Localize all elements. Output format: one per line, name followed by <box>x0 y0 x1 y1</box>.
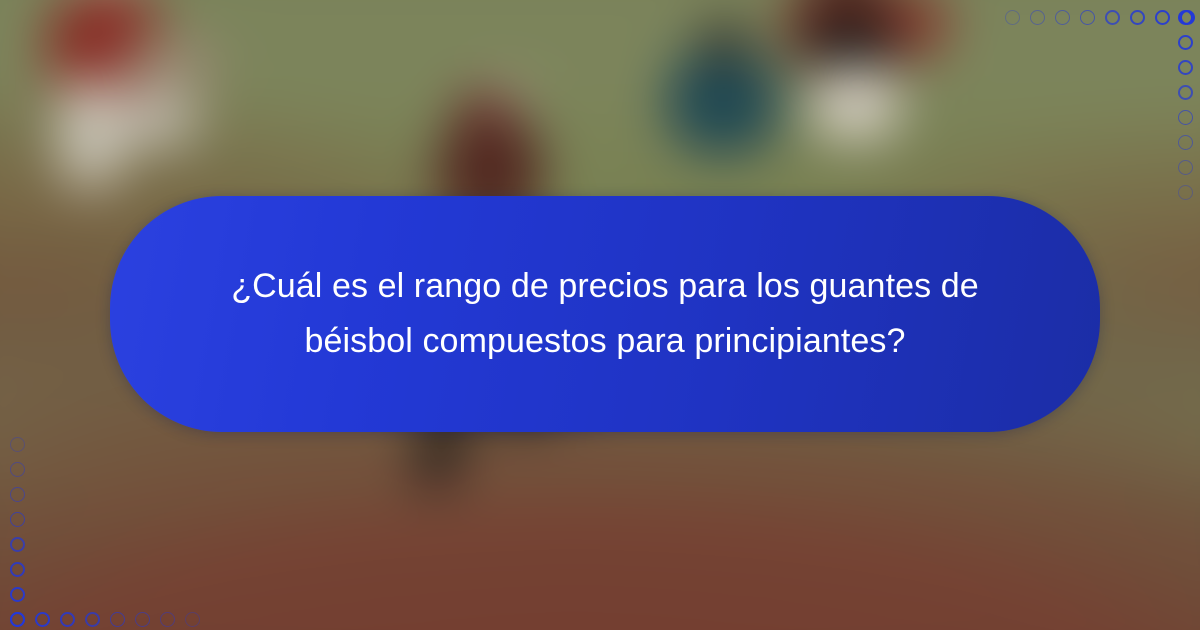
social-card-canvas: ¿Cuál es el rango de precios para los gu… <box>0 0 1200 630</box>
right-player-pants <box>812 66 898 140</box>
left-player-leg <box>108 90 200 150</box>
question-card: ¿Cuál es el rango de precios para los gu… <box>110 196 1100 432</box>
question-text: ¿Cuál es el rango de precios para los gu… <box>155 259 1055 369</box>
teal-figure-head <box>702 20 748 64</box>
pitcher-cap <box>458 90 514 130</box>
left-player-arm <box>122 36 218 92</box>
